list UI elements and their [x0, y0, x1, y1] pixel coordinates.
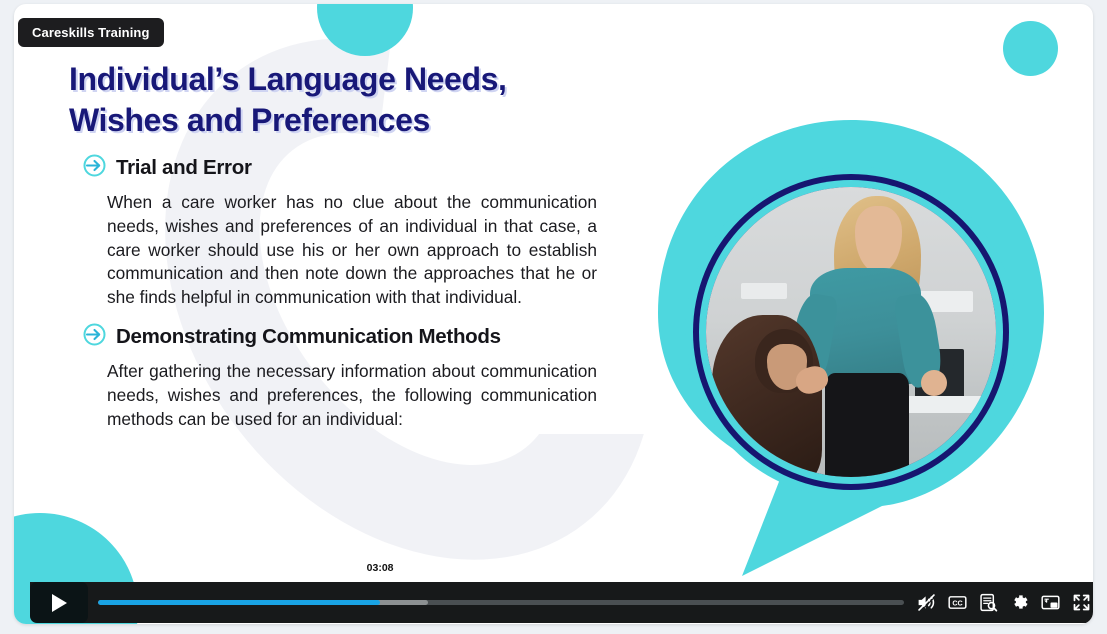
- arrow-circle-icon: [82, 322, 107, 352]
- control-icon-group: CC: [914, 591, 1093, 615]
- transcript-search-icon[interactable]: [976, 591, 1000, 615]
- picture-in-picture-icon[interactable]: [1038, 591, 1062, 615]
- play-icon: [49, 592, 69, 614]
- video-slide-card: Careskills Training Individual’s Languag…: [14, 4, 1093, 624]
- screen: Careskills Training Individual’s Languag…: [0, 0, 1107, 634]
- section-heading-label: Trial and Error: [116, 156, 252, 180]
- seek-bar[interactable]: 03:08: [98, 582, 904, 623]
- fullscreen-icon[interactable]: [1069, 591, 1093, 615]
- decorative-circle-top: [317, 4, 413, 56]
- section-heading-label: Demonstrating Communication Methods: [116, 325, 501, 349]
- slide-title: Individual’s Language Needs, Wishes and …: [69, 59, 614, 141]
- seek-time-tooltip: 03:08: [360, 560, 401, 577]
- slide-content: Individual’s Language Needs, Wishes and …: [69, 59, 614, 432]
- volume-muted-icon[interactable]: [914, 591, 938, 615]
- seek-played: [98, 600, 380, 605]
- arrow-circle-icon: [82, 153, 107, 183]
- presenter-video-pin: [632, 114, 1052, 579]
- closed-captions-icon[interactable]: CC: [945, 591, 969, 615]
- seek-track[interactable]: [98, 600, 904, 605]
- section-body-trial-and-error: When a care worker has no clue about the…: [107, 191, 597, 310]
- play-button[interactable]: [30, 582, 88, 623]
- course-badge: Careskills Training: [18, 18, 164, 47]
- settings-gear-icon[interactable]: [1007, 591, 1031, 615]
- svg-text:CC: CC: [952, 599, 962, 607]
- section-heading-trial-and-error: Trial and Error: [82, 153, 614, 183]
- decorative-circle-top-right: [1003, 21, 1058, 76]
- section-body-demonstrating-communication-methods: After gathering the necessary informatio…: [107, 360, 597, 432]
- section-heading-demonstrating-communication-methods: Demonstrating Communication Methods: [82, 322, 614, 352]
- presenter-photo: [706, 187, 996, 477]
- video-controls-bar: 03:08 CC: [30, 582, 1093, 623]
